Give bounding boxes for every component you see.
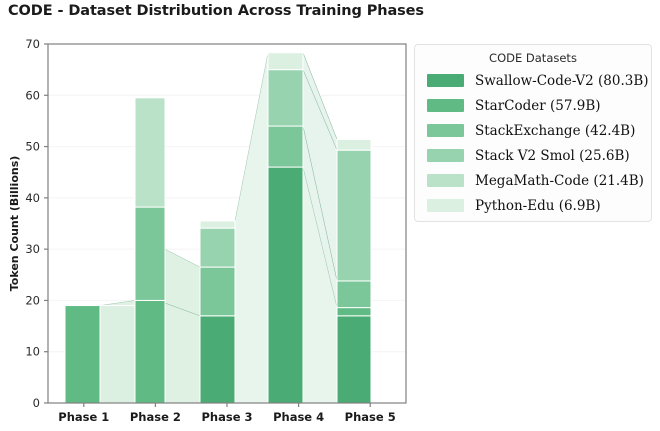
x-tick-label: Phase 4 bbox=[273, 410, 324, 424]
legend-item-label: Stack V2 Smol (25.6B) bbox=[475, 148, 630, 164]
legend-title: CODE Datasets bbox=[415, 51, 651, 65]
chart-root: CODE - Dataset Distribution Across Train… bbox=[0, 0, 660, 431]
bar-segment bbox=[337, 316, 371, 403]
legend-item-label: Swallow-Code-V2 (80.3B) bbox=[475, 73, 649, 89]
legend-item-label: MegaMath-Code (21.4B) bbox=[475, 173, 644, 189]
legend-item[interactable]: Stack V2 Smol (25.6B) bbox=[415, 143, 651, 168]
legend-swatch-icon bbox=[427, 149, 464, 162]
y-axis-title: Token Count (Billions) bbox=[8, 156, 21, 292]
legend-item-label: StarCoder (57.9B) bbox=[475, 98, 601, 114]
legend-item[interactable]: Swallow-Code-V2 (80.3B) bbox=[415, 68, 651, 93]
bar-segment bbox=[100, 306, 135, 403]
bar-segment bbox=[337, 281, 371, 308]
bar-segment bbox=[268, 167, 303, 403]
bar-segment bbox=[337, 308, 371, 316]
bar-segment bbox=[135, 98, 165, 207]
bar-segment bbox=[65, 306, 100, 403]
legend-item[interactable]: StackExchange (42.4B) bbox=[415, 118, 651, 143]
legend-swatch-icon bbox=[427, 99, 464, 112]
legend-item[interactable]: Python-Edu (6.9B) bbox=[415, 193, 651, 218]
legend-swatch-icon bbox=[427, 74, 464, 87]
bar-segment bbox=[135, 300, 165, 403]
bar-segment bbox=[337, 150, 371, 281]
y-tick-label: 70 bbox=[25, 37, 40, 51]
y-tick-label: 30 bbox=[25, 242, 40, 256]
legend-swatch-icon bbox=[427, 124, 464, 137]
bar-segment bbox=[200, 267, 235, 316]
bar-segment bbox=[200, 228, 235, 267]
y-tick-label: 50 bbox=[25, 140, 40, 154]
y-tick-label: 10 bbox=[25, 345, 40, 359]
bar-segment bbox=[337, 139, 371, 150]
bar-segment bbox=[135, 207, 165, 300]
legend-swatch-icon bbox=[427, 199, 464, 212]
legend-item[interactable]: StarCoder (57.9B) bbox=[415, 93, 651, 118]
legend-swatch-icon bbox=[427, 174, 464, 187]
bar-segment bbox=[268, 53, 303, 70]
y-tick-label: 0 bbox=[33, 396, 40, 410]
x-tick-label: Phase 1 bbox=[58, 410, 109, 424]
bar-segment bbox=[268, 126, 303, 167]
y-tick-label: 40 bbox=[25, 191, 40, 205]
y-tick-label: 60 bbox=[25, 88, 40, 102]
y-tick-label: 20 bbox=[25, 293, 40, 307]
legend-item-label: StackExchange (42.4B) bbox=[475, 123, 635, 139]
x-tick-label: Phase 2 bbox=[130, 410, 181, 424]
x-tick-label: Phase 5 bbox=[345, 410, 396, 424]
bar-segment bbox=[200, 316, 235, 403]
legend-item[interactable]: MegaMath-Code (21.4B) bbox=[415, 168, 651, 193]
x-tick-label: Phase 3 bbox=[201, 410, 252, 424]
legend-item-label: Python-Edu (6.9B) bbox=[475, 198, 601, 214]
chart-legend: CODE Datasets Swallow-Code-V2 (80.3B)Sta… bbox=[414, 44, 652, 222]
bar-segment bbox=[268, 70, 303, 126]
bar-segment bbox=[200, 221, 235, 228]
